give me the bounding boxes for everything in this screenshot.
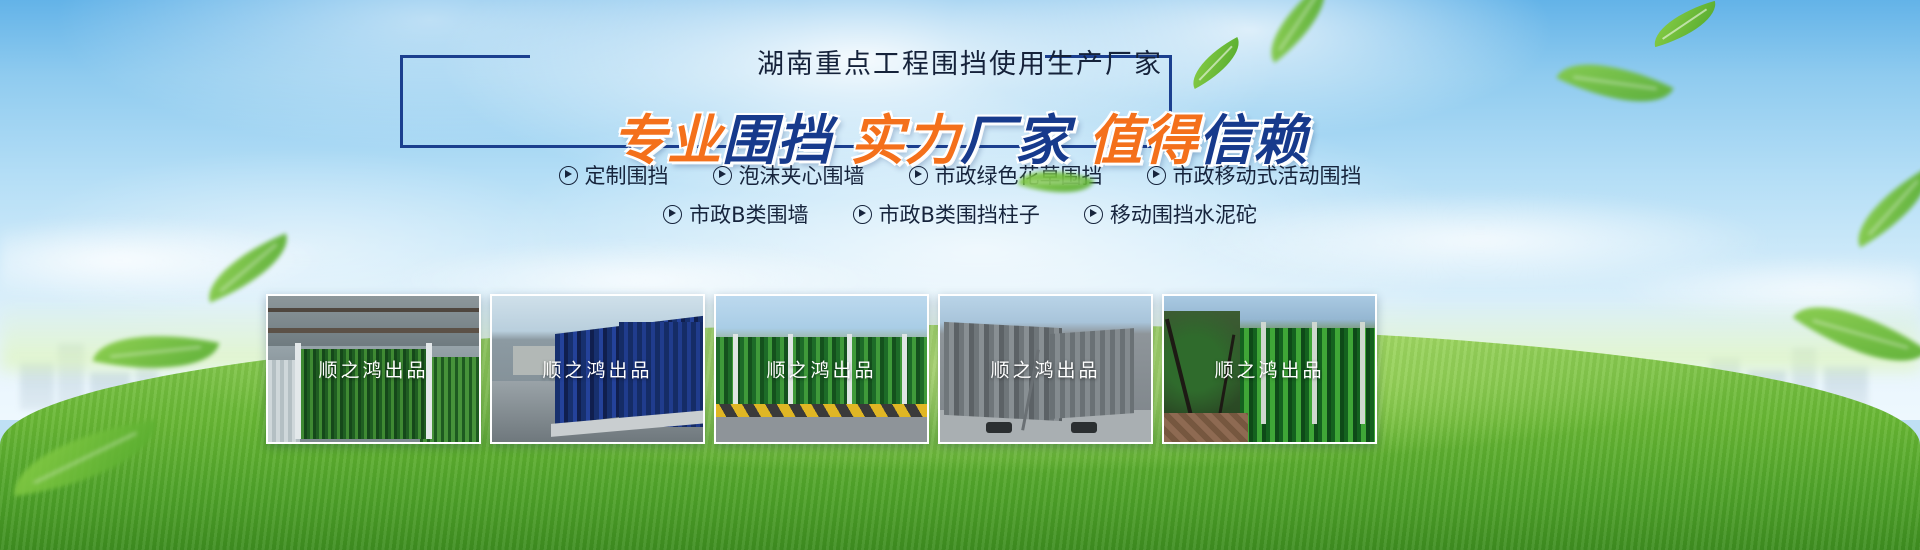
photo-detail <box>426 343 432 439</box>
feature-label: 定制围挡 <box>585 160 669 190</box>
feature-label: 市政移动式活动围挡 <box>1173 160 1362 190</box>
thumbnail-image[interactable]: 顺之鸿出品 <box>490 294 705 444</box>
play-triangle-icon <box>853 205 872 224</box>
photo-detail <box>1312 322 1317 424</box>
feature-item[interactable]: 市政B类围挡柱子 <box>853 199 1040 229</box>
photo-detail <box>1360 322 1365 424</box>
play-triangle-icon <box>713 166 732 185</box>
thumbnail-image[interactable]: 顺之鸿出品 <box>938 294 1153 444</box>
feature-item[interactable]: 移动围挡水泥砣 <box>1084 199 1257 229</box>
photo-detail <box>944 322 1062 422</box>
feature-label: 市政B类围挡柱子 <box>879 199 1040 229</box>
play-triangle-icon <box>559 166 578 185</box>
photo-detail <box>268 296 479 346</box>
photo-detail <box>847 334 852 410</box>
photo-detail <box>716 417 927 442</box>
play-triangle-icon <box>663 205 682 224</box>
photo-detail <box>1164 413 1248 442</box>
photo-detail <box>788 334 793 410</box>
thumbnail-image[interactable]: 顺之鸿出品 <box>714 294 929 444</box>
photo-detail <box>733 334 738 410</box>
feature-label: 移动围挡水泥砣 <box>1110 199 1257 229</box>
photo-detail <box>268 308 479 312</box>
feature-list: 定制围挡 泡沫夹心围墙 市政绿色花草围挡 市政移动式活动围挡 <box>0 160 1920 229</box>
photo-detail <box>513 346 559 375</box>
feature-row-1: 定制围挡 泡沫夹心围墙 市政绿色花草围挡 市政移动式活动围挡 <box>0 160 1920 190</box>
feature-item[interactable]: 市政B类围墙 <box>663 199 808 229</box>
feature-row-2: 市政B类围墙 市政B类围挡柱子 移动围挡水泥砣 <box>0 199 1920 229</box>
feature-item[interactable]: 市政移动式活动围挡 <box>1147 160 1362 190</box>
play-triangle-icon <box>909 166 928 185</box>
play-triangle-icon <box>1084 205 1103 224</box>
photo-detail <box>1227 328 1375 442</box>
photo-detail <box>716 337 927 413</box>
feature-label: 泡沫夹心围墙 <box>739 160 865 190</box>
banner-stage: 湖南重点工程围挡使用生产厂家 专业围挡实力厂家值得信赖 定制围挡 泡沫夹心围墙 … <box>0 0 1920 550</box>
photo-detail <box>1050 328 1134 419</box>
photo-detail <box>1071 422 1097 433</box>
thumbnail-strip: 顺之鸿出品 顺之鸿出品 顺之鸿出品 顺之鸿出品 <box>266 294 1377 444</box>
thumbnail-image[interactable]: 顺之鸿出品 <box>266 294 481 444</box>
photo-detail <box>902 334 907 410</box>
photo-detail <box>295 343 301 439</box>
feature-item[interactable]: 定制围挡 <box>559 160 669 190</box>
photo-detail <box>268 328 479 333</box>
play-triangle-icon <box>1147 166 1166 185</box>
feature-item[interactable]: 泡沫夹心围墙 <box>713 160 865 190</box>
feature-label: 市政B类围墙 <box>689 199 808 229</box>
photo-detail <box>986 422 1012 433</box>
photo-detail <box>1261 322 1266 424</box>
thumbnail-image[interactable]: 顺之鸿出品 <box>1162 294 1377 444</box>
header-block: 湖南重点工程围挡使用生产厂家 专业围挡实力厂家值得信赖 定制围挡 泡沫夹心围墙 … <box>0 0 1920 260</box>
photo-detail <box>298 349 429 440</box>
